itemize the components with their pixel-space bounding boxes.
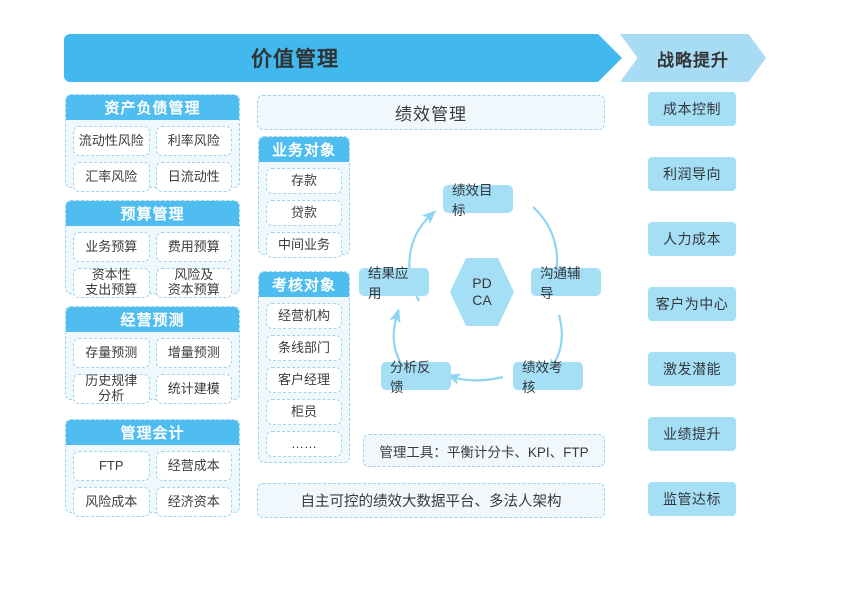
diagram-canvas: 价值管理 战略提升 资产负债管理 流动性风险 利率风险 汇率风险 日流动性 预算…: [0, 0, 842, 595]
goal-chip-label: 激发潜能: [663, 359, 721, 379]
platform-label: 自主可控的绩效大数据平台、多法人架构: [301, 490, 562, 511]
panel-appraisal-objects: 考核对象 经营机构 条线部门 客户经理 柜员 ……: [258, 271, 350, 463]
panel-item[interactable]: 风险成本: [73, 487, 150, 517]
pdca-hexagon-line1: PD: [472, 275, 491, 293]
performance-management-title-label: 绩效管理: [395, 100, 467, 125]
pdca-node-label: 分析反馈: [390, 356, 442, 396]
panel-items: 流动性风险 利率风险 汇率风险 日流动性: [66, 120, 239, 199]
panel-item[interactable]: 业务预算: [73, 232, 150, 262]
panel-item[interactable]: 流动性风险: [73, 126, 150, 156]
goal-chip-performance-improvement[interactable]: 业绩提升: [648, 417, 736, 451]
pdca-node-performance-goal[interactable]: 绩效目标: [443, 185, 513, 213]
goal-chip-labor-cost[interactable]: 人力成本: [648, 222, 736, 256]
panel-item[interactable]: 中间业务: [266, 232, 342, 258]
panel-item[interactable]: 经营成本: [156, 451, 233, 481]
panel-item[interactable]: 存款: [266, 168, 342, 194]
arrow-assess-to-feedback: [453, 377, 503, 380]
panel-item[interactable]: 风险及 资本预算: [156, 268, 233, 298]
strategy-upgrade-banner: 战略提升: [620, 34, 766, 82]
panel-item[interactable]: 客户经理: [266, 367, 342, 393]
value-management-banner-label: 价值管理: [251, 43, 339, 73]
panel-items: 经营机构 条线部门 客户经理 柜员 ……: [259, 297, 349, 464]
panel-item[interactable]: 历史规律 分析: [73, 374, 150, 404]
panel-title: 预算管理: [66, 201, 239, 226]
panel-item[interactable]: 汇率风险: [73, 162, 150, 192]
panel-title: 考核对象: [259, 272, 349, 297]
panel-title: 资产负债管理: [66, 95, 239, 120]
performance-management-title: 绩效管理: [257, 95, 605, 130]
panel-item[interactable]: 柜员: [266, 399, 342, 425]
strategy-upgrade-banner-label: 战略提升: [657, 46, 729, 71]
goal-chip-label: 客户为中心: [656, 294, 729, 314]
goal-chip-label: 成本控制: [663, 99, 721, 119]
goal-chip-label: 人力成本: [663, 229, 721, 249]
panel-item[interactable]: 日流动性: [156, 162, 233, 192]
panel-item[interactable]: 资本性 支出预算: [73, 268, 150, 298]
panel-management-accounting: 管理会计 FTP 经营成本 风险成本 经济资本: [65, 419, 240, 513]
panel-items: 存款 贷款 中间业务: [259, 162, 349, 265]
pdca-node-result-application[interactable]: 结果应用: [359, 268, 429, 296]
panel-title: 经营预测: [66, 307, 239, 332]
pdca-hexagon: PD CA: [450, 258, 514, 326]
goal-chip-customer-centric[interactable]: 客户为中心: [648, 287, 736, 321]
platform-bar: 自主可控的绩效大数据平台、多法人架构: [257, 483, 605, 518]
pdca-node-analysis-feedback[interactable]: 分析反馈: [381, 362, 451, 390]
panel-items: 存量预测 增量预测 历史规律 分析 统计建模: [66, 332, 239, 411]
pdca-node-performance-assessment[interactable]: 绩效考核: [513, 362, 583, 390]
goal-chip-label: 利润导向: [663, 164, 721, 184]
panel-item[interactable]: 条线部门: [266, 335, 342, 361]
pdca-node-label: 结果应用: [368, 262, 420, 302]
panel-item[interactable]: 增量预测: [156, 338, 233, 368]
goal-chip-label: 业绩提升: [663, 424, 721, 444]
panel-asset-liability-management: 资产负债管理 流动性风险 利率风险 汇率风险 日流动性: [65, 94, 240, 188]
panel-item[interactable]: 经营机构: [266, 303, 342, 329]
panel-item[interactable]: 存量预测: [73, 338, 150, 368]
panel-title: 管理会计: [66, 420, 239, 445]
panel-business-forecast: 经营预测 存量预测 增量预测 历史规律 分析 统计建模: [65, 306, 240, 400]
goal-chip-unlock-potential[interactable]: 激发潜能: [648, 352, 736, 386]
panel-items: 业务预算 费用预算 资本性 支出预算 风险及 资本预算: [66, 226, 239, 305]
panel-item[interactable]: ……: [266, 431, 342, 457]
pdca-hexagon-line2: CA: [472, 292, 491, 310]
goal-chip-regulatory-compliance[interactable]: 监管达标: [648, 482, 736, 516]
goal-chip-label: 监管达标: [663, 489, 721, 509]
panel-item[interactable]: 经济资本: [156, 487, 233, 517]
panel-item[interactable]: 贷款: [266, 200, 342, 226]
goal-chip-profit-orientation[interactable]: 利润导向: [648, 157, 736, 191]
management-tools-bar: 管理工具：平衡计分卡、KPI、FTP: [363, 434, 605, 467]
value-management-banner: 价值管理: [64, 34, 598, 82]
panel-items: FTP 经营成本 风险成本 经济资本: [66, 445, 239, 524]
goal-chip-cost-control[interactable]: 成本控制: [648, 92, 736, 126]
panel-business-objects: 业务对象 存款 贷款 中间业务: [258, 136, 350, 255]
pdca-node-label: 沟通辅导: [540, 262, 592, 302]
panel-title: 业务对象: [259, 137, 349, 162]
panel-item[interactable]: 统计建模: [156, 374, 233, 404]
pdca-node-communication-coaching[interactable]: 沟通辅导: [531, 268, 601, 296]
panel-item[interactable]: 费用预算: [156, 232, 233, 262]
pdca-node-label: 绩效目标: [452, 179, 504, 219]
panel-item[interactable]: FTP: [73, 451, 150, 481]
panel-budget-management: 预算管理 业务预算 费用预算 资本性 支出预算 风险及 资本预算: [65, 200, 240, 294]
pdca-node-label: 绩效考核: [522, 356, 574, 396]
management-tools-label: 管理工具：平衡计分卡、KPI、FTP: [379, 441, 588, 461]
panel-item[interactable]: 利率风险: [156, 126, 233, 156]
